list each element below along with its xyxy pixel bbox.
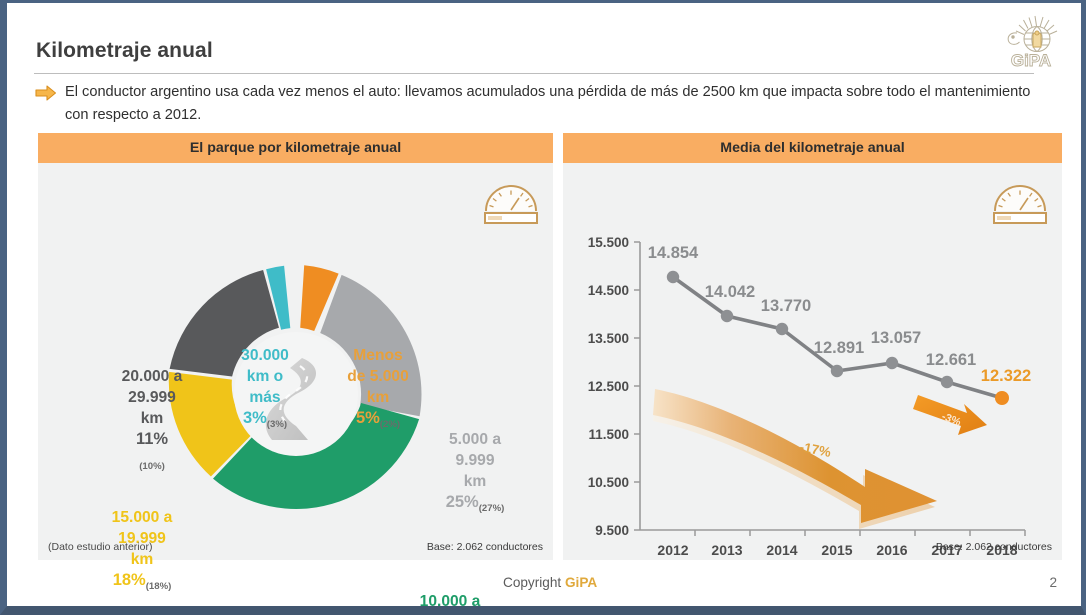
- slide-inner: Kilometraje anual El conductor argentino…: [7, 3, 1081, 606]
- donut-label-10000-14999: 10.000 a 14.999 km 38%(40%): [390, 591, 510, 615]
- title-divider: [34, 73, 1034, 74]
- y-tick-label: 10.500: [588, 475, 629, 490]
- line-chart: 15.500 14.500 13.500 12.500 11.500 10.50…: [563, 163, 1062, 560]
- arrow-right-icon: [35, 83, 57, 103]
- data-point: [886, 357, 898, 369]
- y-tick-label: 13.500: [588, 331, 629, 346]
- previous-study-note: (Dato estudio anterior): [48, 541, 152, 553]
- data-point: [721, 310, 733, 322]
- data-point-last: [995, 391, 1009, 405]
- x-tick-label: 2013: [711, 542, 742, 558]
- y-tick-label: 12.500: [588, 379, 629, 394]
- panel-left-body: 20.000 a 29.999 km 11% (10%) 30.000 km o…: [38, 163, 553, 560]
- x-tick-label: 2016: [876, 542, 907, 558]
- page-number: 2: [1049, 575, 1057, 590]
- y-axis-ticks: [634, 242, 640, 530]
- x-axis-ticks: [695, 530, 1025, 536]
- panel-right-title: Media del kilometraje anual: [563, 133, 1062, 163]
- data-point: [776, 323, 788, 335]
- data-label: 12.891: [814, 339, 864, 357]
- data-label: 14.854: [648, 244, 699, 262]
- donut-label-20000-29999: 20.000 a 29.999 km 11% (10%): [96, 366, 208, 477]
- y-tick-label: 11.500: [588, 427, 629, 442]
- footer-brand: GiPA: [565, 575, 597, 590]
- y-tick-label: 14.500: [588, 283, 629, 298]
- panel-right-body: 15.500 14.500 13.500 12.500 11.500 10.50…: [563, 163, 1062, 560]
- x-tick-label: 2014: [766, 542, 797, 558]
- y-tick-label: 9.500: [595, 523, 629, 538]
- data-label: 13.057: [871, 329, 921, 347]
- bullet-row: El conductor argentino usa cada vez meno…: [35, 81, 1035, 127]
- bullet-text: El conductor argentino usa cada vez meno…: [65, 81, 1035, 127]
- donut-label-5000-9999: 5.000 a 9.999 km 25%(27%): [420, 429, 530, 519]
- panel-parque: El parque por kilometraje anual: [38, 133, 553, 560]
- footer-copyright-prefix: Copyright: [503, 575, 565, 590]
- x-tick-label: 2012: [657, 542, 688, 558]
- series-data-labels: 14.854 14.042 13.770 12.891 13.057 12.66…: [648, 244, 1031, 385]
- data-point: [941, 376, 953, 388]
- base-note-right: Base: 2.062 conductores: [936, 541, 1052, 553]
- donut-label-menos-5000: Menos de 5.000 km 5%(2%): [328, 345, 428, 435]
- donut-chart: 20.000 a 29.999 km 11% (10%) 30.000 km o…: [38, 163, 553, 560]
- base-note-left: Base: 2.062 conductores: [427, 541, 543, 553]
- x-tick-label: 2015: [821, 542, 852, 558]
- page-title: Kilometraje anual: [36, 39, 213, 63]
- footer-copyright: Copyright GiPA: [503, 575, 597, 590]
- slide: Kilometraje anual El conductor argentino…: [0, 0, 1086, 615]
- panel-media: Media del kilometraje anual: [563, 133, 1062, 560]
- gipa-logo: GiPA: [997, 11, 1065, 73]
- panel-left-title: El parque por kilometraje anual: [38, 133, 553, 163]
- line-chart-svg: 15.500 14.500 13.500 12.500 11.500 10.50…: [563, 163, 1062, 560]
- data-label-last: 12.322: [981, 367, 1031, 385]
- data-label: 12.661: [926, 351, 976, 369]
- data-point: [667, 271, 679, 283]
- trend-arrow-17: [653, 389, 937, 529]
- data-point: [831, 365, 843, 377]
- y-tick-label: 15.500: [588, 235, 629, 250]
- y-tick-labels: 15.500 14.500 13.500 12.500 11.500 10.50…: [588, 235, 629, 538]
- data-label: 13.770: [761, 297, 811, 315]
- data-label: 14.042: [705, 283, 755, 301]
- donut-label-30000-mas: 30.000 km o más 3%(3%): [224, 345, 306, 435]
- gipa-logo-text: GiPA: [1011, 51, 1051, 70]
